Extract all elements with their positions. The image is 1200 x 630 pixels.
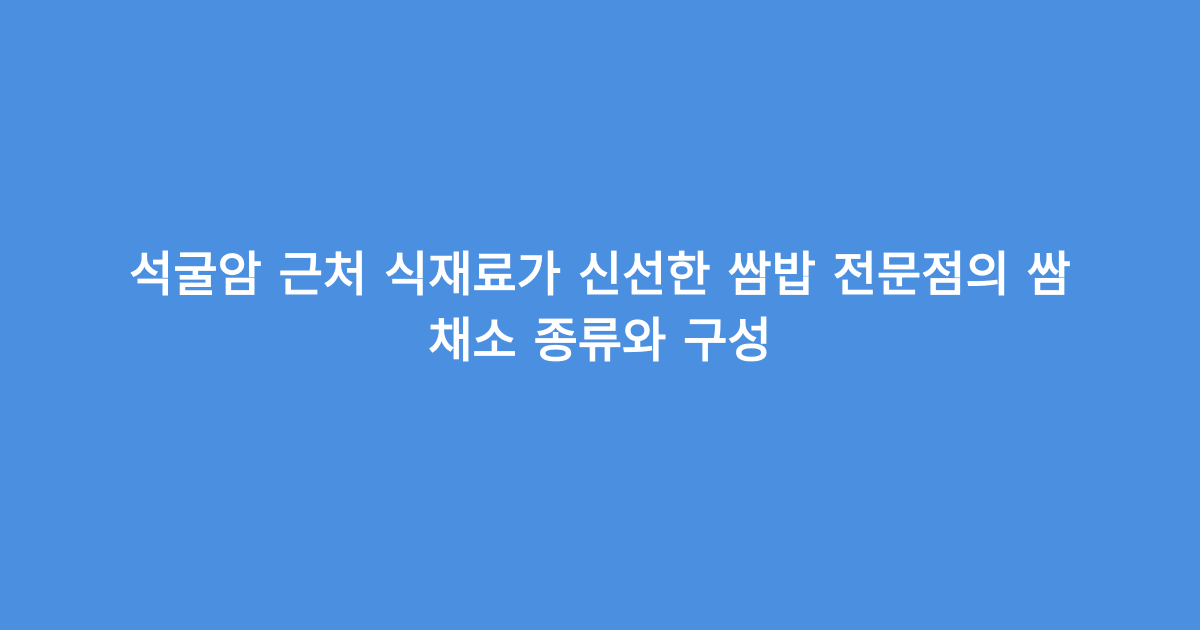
page-title: 석굴암 근처 식재료가 신선한 쌈밥 전문점의 쌈 채소 종류와 구성 bbox=[100, 242, 1100, 374]
title-block: 석굴암 근처 식재료가 신선한 쌈밥 전문점의 쌈 채소 종류와 구성 bbox=[100, 242, 1100, 388]
og-title-card: 석굴암 근처 식재료가 신선한 쌈밥 전문점의 쌈 채소 종류와 구성 bbox=[0, 0, 1200, 630]
